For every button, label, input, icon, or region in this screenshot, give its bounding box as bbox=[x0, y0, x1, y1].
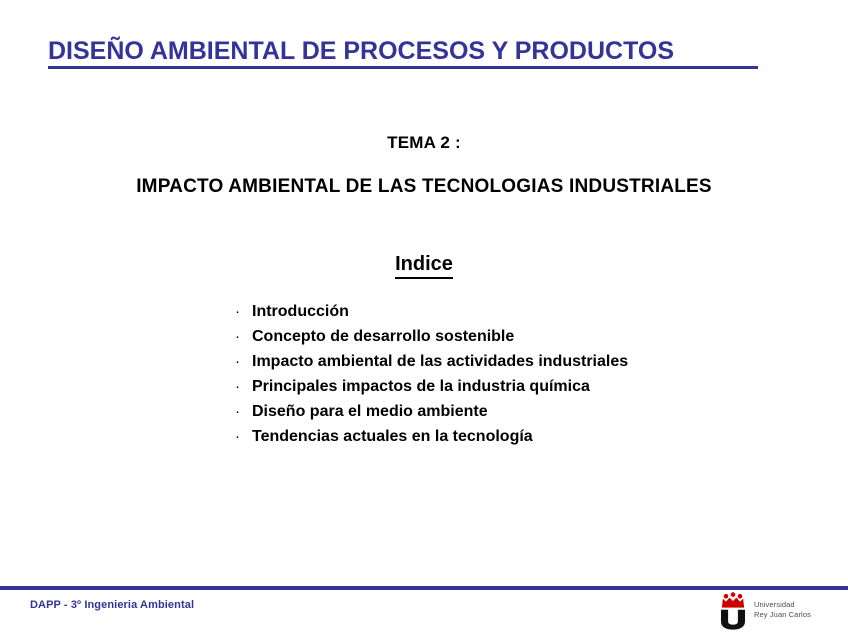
logo-line-2: Rey Juan Carlos bbox=[754, 610, 834, 620]
bullet-dot-icon: · bbox=[235, 349, 245, 374]
bullet-dot-icon: · bbox=[235, 324, 245, 349]
bullet-dot-icon: · bbox=[235, 399, 245, 424]
tema-label: TEMA 2 : bbox=[0, 133, 848, 153]
indice-heading: Indice bbox=[395, 253, 453, 279]
university-logo: Universidad Rey Juan Carlos bbox=[716, 592, 834, 630]
list-item-label: Tendencias actuales en la tecnología bbox=[252, 428, 533, 445]
footer-course-label: DAPP - 3º Ingenieria Ambiental bbox=[30, 599, 194, 611]
list-item: · Concepto de desarrollo sostenible bbox=[233, 324, 793, 349]
indice-heading-container: Indice bbox=[0, 253, 848, 279]
bullet-dot-icon: · bbox=[235, 424, 245, 449]
bullet-dot-icon: · bbox=[235, 374, 245, 399]
list-item: · Tendencias actuales en la tecnología bbox=[233, 424, 793, 449]
list-item-label: Impacto ambiental de las actividades ind… bbox=[252, 353, 628, 370]
list-item-label: Concepto de desarrollo sostenible bbox=[252, 328, 514, 345]
tema-subject: IMPACTO AMBIENTAL DE LAS TECNOLOGIAS IND… bbox=[0, 176, 848, 198]
list-item-label: Diseño para el medio ambiente bbox=[252, 403, 488, 420]
list-item-label: Principales impactos de la industria quí… bbox=[252, 378, 590, 395]
list-item: · Diseño para el medio ambiente bbox=[233, 399, 793, 424]
logo-wordmark: Universidad Rey Juan Carlos bbox=[754, 600, 834, 620]
footer-divider bbox=[0, 586, 848, 590]
presentation-slide: DISEÑO AMBIENTAL DE PROCESOS Y PRODUCTOS… bbox=[0, 0, 848, 636]
list-item: · Introducción bbox=[233, 299, 793, 324]
title-underline-rule bbox=[48, 66, 758, 69]
bullet-dot-icon: · bbox=[235, 299, 245, 324]
page-title: DISEÑO AMBIENTAL DE PROCESOS Y PRODUCTOS bbox=[48, 36, 760, 66]
index-list: · Introducción · Concepto de desarrollo … bbox=[233, 299, 793, 449]
list-item: · Principales impactos de la industria q… bbox=[233, 374, 793, 399]
logo-line-1: Universidad bbox=[754, 600, 834, 610]
list-item: · Impacto ambiental de las actividades i… bbox=[233, 349, 793, 374]
list-item-label: Introducción bbox=[252, 303, 349, 320]
urjc-crown-u-icon bbox=[716, 592, 750, 630]
